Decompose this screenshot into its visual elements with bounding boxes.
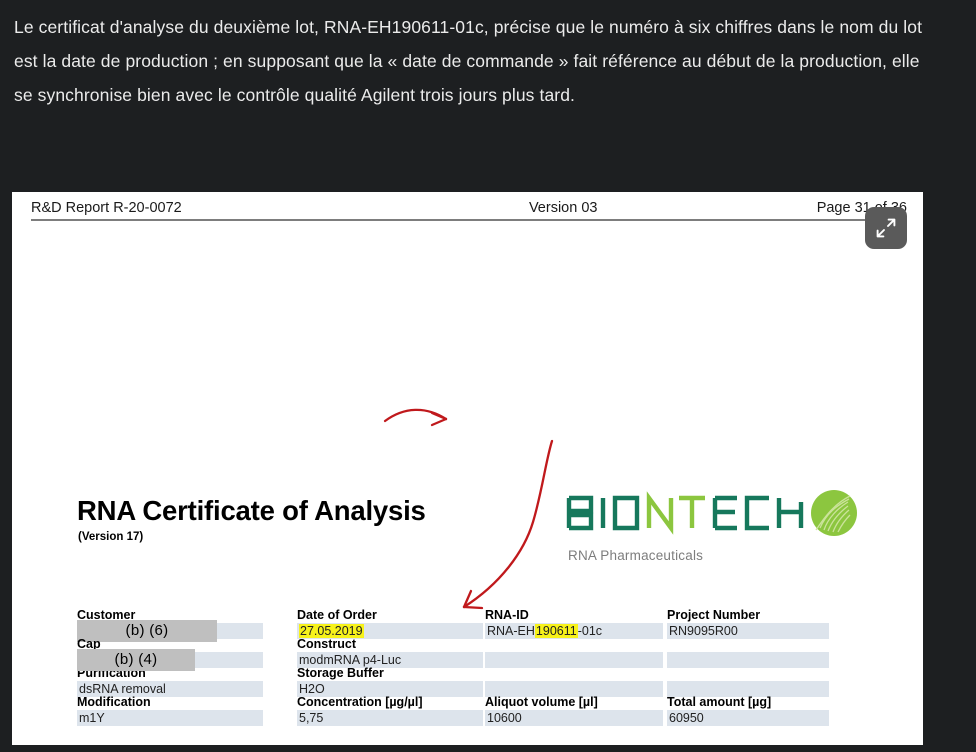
field-value: RN9095R00 (667, 623, 829, 639)
field-label: Total amount [µg] (667, 696, 829, 709)
leaf-circle-icon (808, 488, 860, 538)
field-date-of-order: Date of Order 27.05.2019 (297, 609, 483, 639)
redaction-box-cap: (b) (4) (77, 649, 195, 671)
coa-version-label: (Version 17) (78, 531, 143, 543)
annotation-arrow-2 (464, 441, 552, 607)
field-value: m1Y (77, 710, 263, 726)
expand-fullscreen-button[interactable] (865, 207, 907, 249)
field-value: 60950 (667, 710, 829, 726)
field-aliquot-volume: Aliquot volume [µl] 10600 (485, 696, 663, 726)
field-spacer-c3 (485, 667, 663, 697)
highlight-rna-id-date: 190611 (535, 624, 578, 638)
field-value: 5,75 (297, 710, 483, 726)
field-spacer-c2 (485, 638, 663, 668)
field-label: RNA-ID (485, 609, 663, 622)
report-version-text: Version 03 (529, 200, 598, 216)
field-construct: Construct modmRNA p4-Luc (297, 638, 483, 668)
field-modification: Modification m1Y (77, 696, 263, 726)
highlight-date-of-order: 27.05.2019 (299, 624, 364, 638)
header-divider (31, 219, 907, 221)
field-label: Project Number (667, 609, 829, 622)
biontech-logo: RNA Pharmaceuticals (565, 488, 865, 573)
field-spacer-d3 (667, 667, 829, 697)
document-viewer-panel[interactable]: R&D Report R-20-0072 Version 03 Page 31 … (12, 192, 923, 745)
field-label: Storage Buffer (297, 667, 483, 680)
coa-field-grid: Customer Date of Order 27.05.2019 RNA-ID… (77, 609, 867, 725)
document-running-header: R&D Report R-20-0072 Version 03 Page 31 … (31, 200, 907, 230)
assistant-answer-text: Le certificat d'analyse du deuxième lot,… (0, 0, 952, 112)
rna-id-suffix: -01c (578, 624, 602, 638)
field-storage-buffer: Storage Buffer H2O (297, 667, 483, 697)
rna-id-prefix: RNA-EH (487, 624, 535, 638)
coa-title: RNA Certificate of Analysis (77, 495, 426, 527)
field-concentration: Concentration [µg/µl] 5,75 (297, 696, 483, 726)
field-row-4: Modification m1Y Concentration [µg/µl] 5… (77, 696, 867, 725)
field-value: RNA-EH190611-01c (485, 623, 663, 639)
field-label: Aliquot volume [µl] (485, 696, 663, 709)
expand-arrows-icon (875, 217, 897, 239)
field-row-3: Purification dsRNA removal Storage Buffe… (77, 667, 867, 696)
field-total-amount: Total amount [µg] 60950 (667, 696, 829, 726)
field-label: Date of Order (297, 609, 483, 622)
field-rna-id: RNA-ID RNA-EH190611-01c (485, 609, 663, 639)
field-value (485, 652, 663, 668)
field-row-2: Cap Construct modmRNA p4-Luc (77, 638, 867, 667)
field-spacer-d2 (667, 638, 829, 668)
field-purification: Purification dsRNA removal (77, 667, 263, 697)
logo-tagline: RNA Pharmaceuticals (568, 548, 703, 563)
report-id-text: R&D Report R-20-0072 (31, 200, 182, 216)
field-label: Construct (297, 638, 483, 651)
field-label: Concentration [µg/µl] (297, 696, 483, 709)
biontech-wordmark-icon (565, 488, 823, 536)
annotation-arrow-1 (385, 410, 446, 421)
field-row-1: Customer Date of Order 27.05.2019 RNA-ID… (77, 609, 867, 638)
field-value: 10600 (485, 710, 663, 726)
field-project-number: Project Number RN9095R00 (667, 609, 829, 639)
field-label: Modification (77, 696, 263, 709)
field-value (667, 652, 829, 668)
